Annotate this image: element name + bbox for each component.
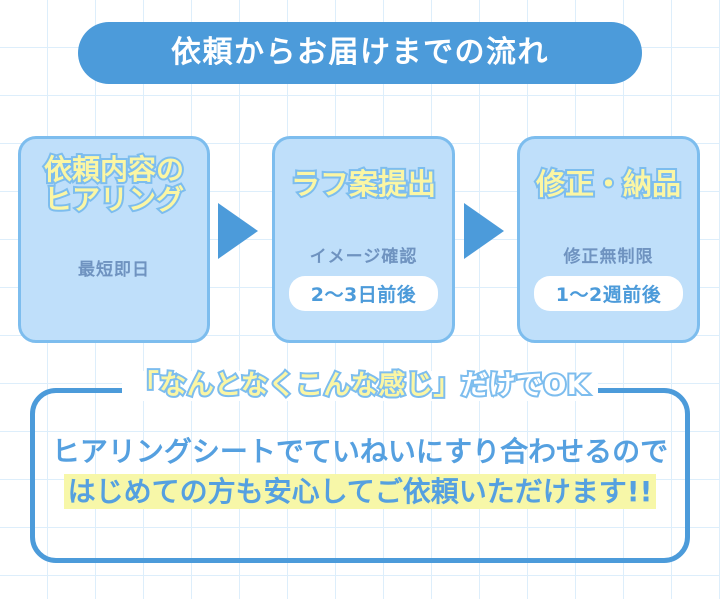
note-box-body: ヒアリングシートでていねいにすり合わせるので はじめての方も安心してご依頼いただ…: [30, 432, 690, 512]
note-body-line-2-wrapper: はじめての方も安心してご依頼いただけます!!: [30, 472, 690, 512]
note-body-line-2: はじめての方も安心してご依頼いただけます!!: [64, 474, 657, 509]
step-card-2-heading: ラフ案提出: [291, 169, 436, 200]
step-card-1-heading: 依頼内容の ヒアリング: [44, 155, 184, 215]
step-card-1-subtitle: 最短即日: [78, 255, 150, 280]
header-banner: 依頼からお届けまでの流れ: [78, 22, 642, 84]
triangle-right-icon: [464, 203, 504, 259]
note-body-line-1: ヒアリングシートでていねいにすり合わせるので: [30, 432, 690, 472]
infographic-stage: 依頼からお届けまでの流れ 依頼内容の ヒアリング 最短即日 ラフ案提出 イメージ…: [0, 0, 720, 599]
step-card-1: 依頼内容の ヒアリング 最短即日: [18, 136, 210, 343]
step-card-3-subtitle: 修正無制限: [564, 242, 654, 267]
page-title: 依頼からお届けまでの流れ: [171, 38, 549, 68]
step-card-2-subtitle: イメージ確認: [310, 242, 418, 267]
step-card-2: ラフ案提出 イメージ確認 2〜3日前後: [272, 136, 455, 343]
step-card-3: 修正・納品 修正無制限 1〜2週前後: [517, 136, 700, 343]
step-card-3-duration-badge: 1〜2週前後: [534, 276, 683, 311]
step-card-3-heading: 修正・納品: [536, 169, 681, 200]
triangle-right-icon: [218, 203, 258, 259]
step-card-2-duration-badge: 2〜3日前後: [289, 276, 438, 311]
